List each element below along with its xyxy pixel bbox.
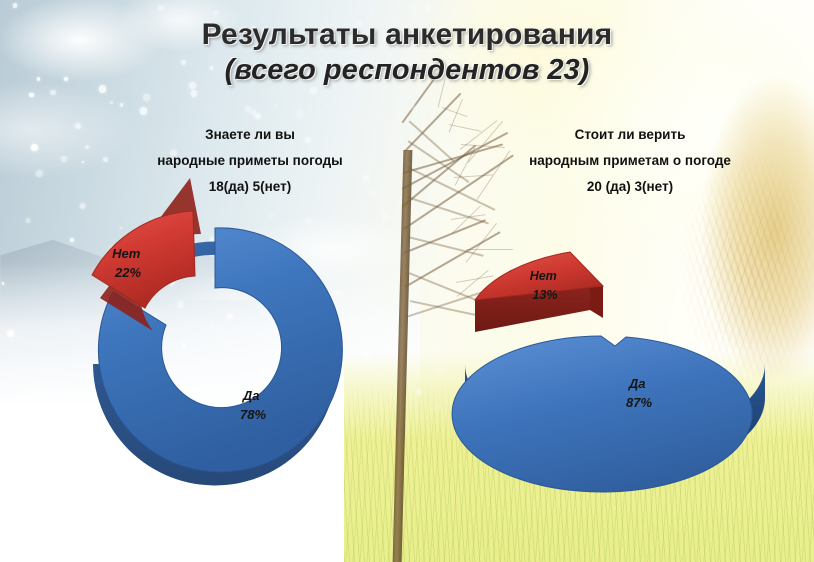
chart-right-caption: Стоит ли верить народным приметам о пого… <box>420 122 814 200</box>
snowflake <box>158 5 165 12</box>
chart-left-caption-line-2: народные приметы погоды <box>60 148 440 174</box>
snowflake <box>143 94 150 101</box>
snowflake <box>7 330 15 338</box>
snowflake <box>421 400 423 402</box>
snowflake <box>255 114 261 120</box>
snowflake <box>370 9 373 12</box>
snowflake <box>213 11 218 16</box>
chart-left-doughnut: Нет 22% Да 78% <box>60 200 370 500</box>
snowflake <box>274 104 276 106</box>
chart-right-label-no-name: Нет <box>530 269 557 283</box>
snowflake <box>416 389 422 395</box>
snowflake <box>13 3 18 8</box>
chart-left-caption: Знаете ли вы народные приметы погоды 18(… <box>60 122 440 200</box>
snowflake <box>426 6 430 10</box>
chart-right-caption-line-1: Стоит ли верить <box>420 122 814 148</box>
chart-right-caption-line-3: 20 (да) 3(нет) <box>420 174 814 200</box>
snowflake <box>382 214 387 219</box>
slide-title-line-2: (всего респондентов 23) <box>0 54 814 87</box>
snowflake <box>382 219 385 222</box>
snowflake <box>31 144 38 151</box>
snowflake <box>50 90 56 96</box>
chart-right-label-yes-value: 87% <box>626 395 652 410</box>
chart-right-svg: Нет 13% Да 87% <box>440 240 790 500</box>
snowflake <box>191 90 198 97</box>
snowflake <box>382 355 384 357</box>
snowflake <box>296 110 303 117</box>
chart-right-caption-line-2: народным приметам о погоде <box>420 148 814 174</box>
snowflake <box>411 105 416 110</box>
snowflake <box>110 101 113 104</box>
chart-right-slice-yes[interactable] <box>452 336 752 492</box>
slide-title-block: Результаты анкетирования (всего респонде… <box>0 18 814 87</box>
chart-right-pie: Нет 13% Да 87% <box>440 240 790 500</box>
snowflake <box>120 103 124 107</box>
snowflake <box>29 93 34 98</box>
snowflake <box>36 170 43 177</box>
chart-right-label-no-value: 13% <box>532 288 557 302</box>
snowflake <box>310 87 317 94</box>
snowflake <box>390 252 393 255</box>
chart-left-label-no-value: 22% <box>114 265 141 280</box>
chart-left-svg: Нет 22% Да 78% <box>60 200 370 500</box>
snowflake <box>26 218 30 222</box>
snowflake <box>326 104 329 107</box>
slide-title-line-1: Результаты анкетирования <box>0 18 814 52</box>
chart-left-label-no-name: Нет <box>112 246 141 261</box>
chart-left-caption-line-3: 18(да) 5(нет) <box>60 174 440 200</box>
snowflake <box>413 5 418 10</box>
snowflake <box>260 90 262 92</box>
snowflake <box>245 106 251 112</box>
slide-canvas: Результаты анкетирования (всего респонде… <box>0 0 814 562</box>
snowflake <box>2 282 5 285</box>
snowflake <box>140 107 147 114</box>
chart-left-caption-line-1: Знаете ли вы <box>60 122 440 148</box>
chart-left-label-yes-name: Да <box>242 388 260 403</box>
snowflake <box>435 349 438 352</box>
chart-left-label-yes-value: 78% <box>240 407 266 422</box>
chart-right-label-yes-name: Да <box>628 376 646 391</box>
